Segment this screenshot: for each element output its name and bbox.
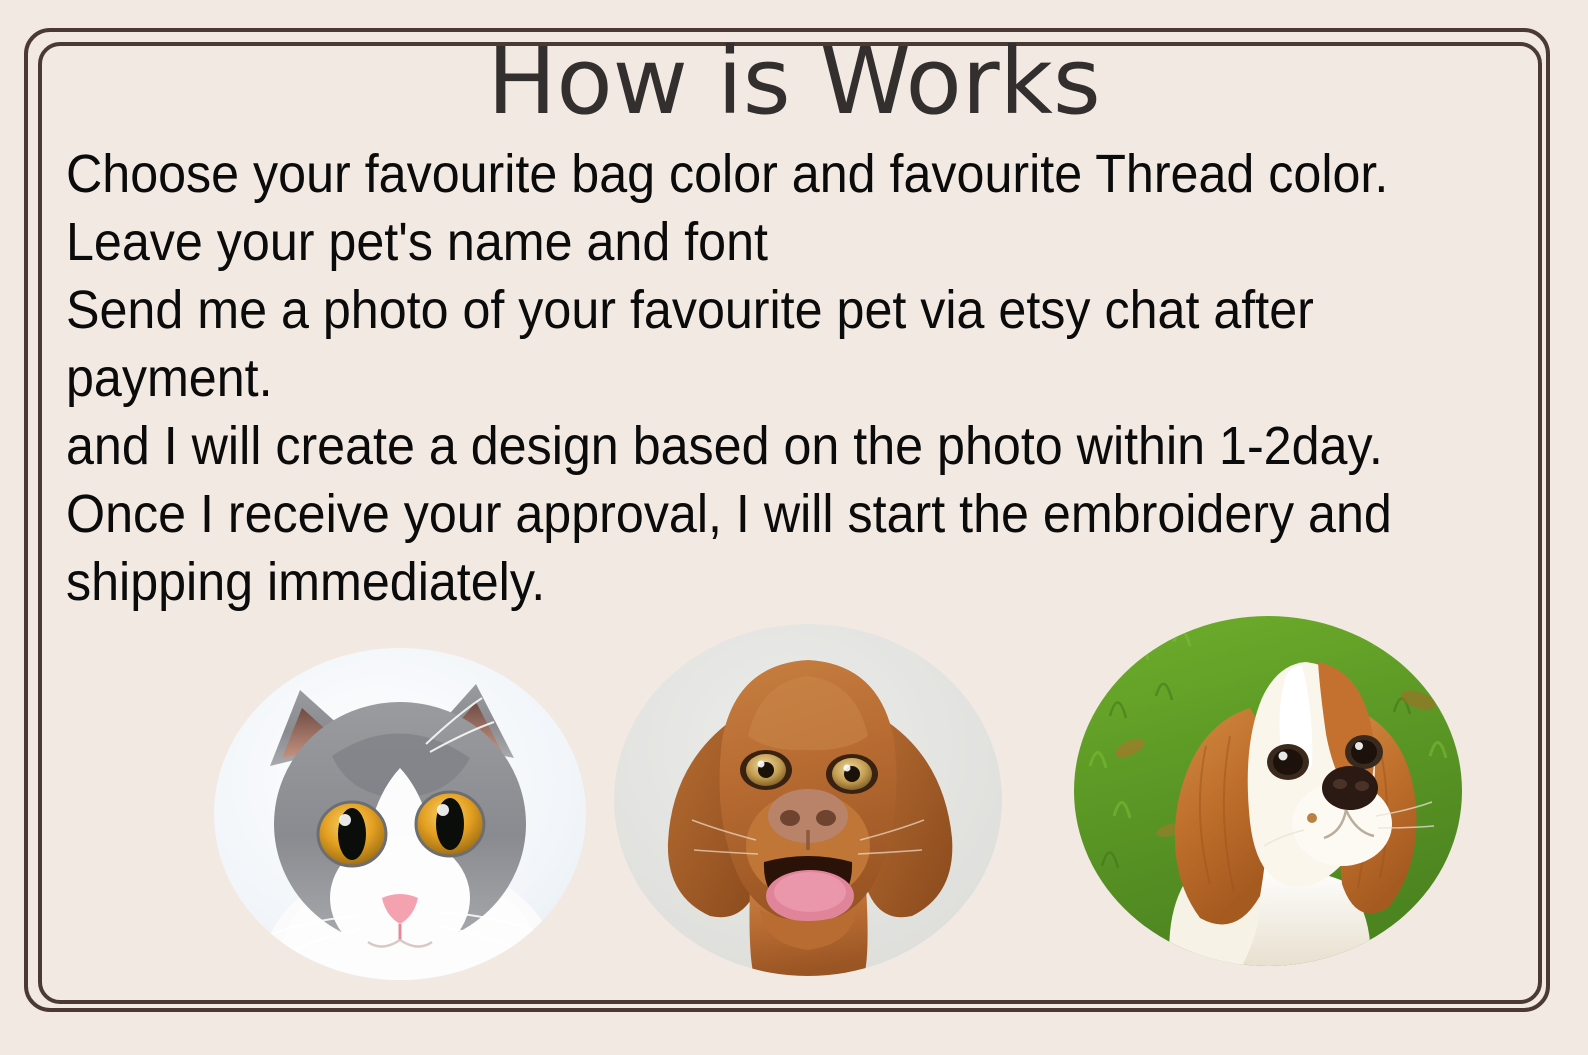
page-title: How is Works [0, 36, 1588, 128]
instructions-block: Choose your favourite bag color and favo… [66, 140, 1496, 616]
instruction-line: and I will create a design based on the … [66, 412, 1396, 480]
how-it-works-card: How is Works Choose your favourite bag c… [0, 0, 1588, 1055]
vizsla-photo [614, 624, 1002, 976]
instruction-line: Choose your favourite bag color and favo… [66, 140, 1396, 208]
vizsla-illustration [614, 624, 1002, 976]
instruction-line: Leave your pet's name and font [66, 208, 1396, 276]
cavalier-spaniel-photo [1074, 616, 1462, 966]
instruction-line: Send me a photo of your favourite pet vi… [66, 276, 1396, 344]
cavalier-spaniel-illustration [1074, 616, 1462, 966]
instruction-line: Once I receive your approval, I will sta… [66, 480, 1396, 548]
cat-photo [214, 648, 586, 980]
instruction-line: payment. [66, 344, 1396, 412]
instruction-line: shipping immediately. [66, 548, 1396, 616]
cat-illustration [214, 648, 586, 980]
